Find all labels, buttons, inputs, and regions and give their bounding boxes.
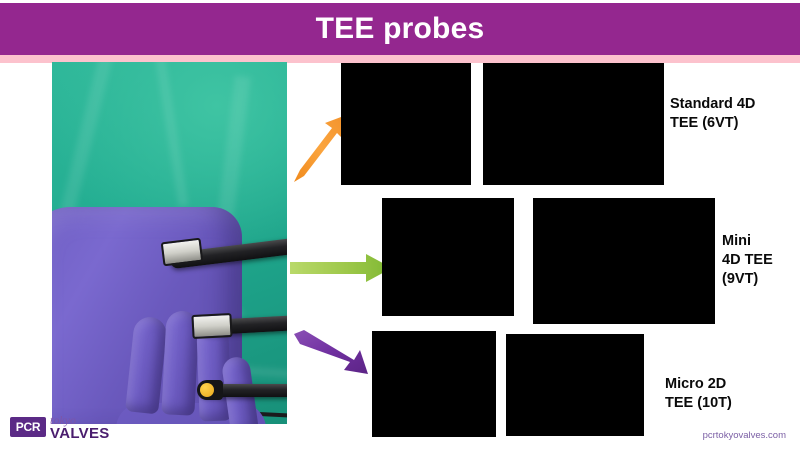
slide-root: TEE probes [0, 0, 800, 450]
echo-3d-volume-standard [341, 63, 471, 185]
echo-2d-micro-left [372, 331, 496, 437]
footer-url[interactable]: pcrtokyovalves.com [703, 430, 786, 441]
echo-background [341, 63, 471, 185]
probe-tip-standard [161, 238, 204, 267]
echo-background [533, 198, 715, 324]
echo-background [506, 334, 644, 436]
arrow-micro-2d-icon [292, 330, 374, 376]
arrow-mini-4d-icon [290, 253, 394, 283]
probe-tip-micro [197, 380, 223, 400]
echo-background [372, 331, 496, 437]
slide-header-bar: TEE probes [0, 3, 800, 55]
echo-2d-biplane-standard [483, 63, 664, 185]
tee-probes-photograph [52, 62, 287, 424]
echo-background [483, 63, 664, 185]
pcr-tokyo-valves-logo: PCR tokyo VALVES [10, 410, 120, 442]
logo-word-valves: VALVES [50, 425, 110, 442]
pcr-badge-text: PCR [16, 420, 40, 434]
label-standard-4d: Standard 4D TEE (6VT) [670, 95, 755, 133]
echo-background [382, 198, 514, 316]
echo-3d-volume-mini [382, 198, 514, 316]
page-title: TEE probes [0, 3, 800, 55]
echo-2d-biplane-mini [533, 198, 715, 324]
label-micro-2d: Micro 2D TEE (10T) [665, 375, 732, 413]
probe-tip-mini [191, 313, 232, 339]
label-mini-4d: Mini 4D TEE (9VT) [722, 232, 773, 289]
pcr-badge: PCR [10, 417, 46, 437]
echo-2d-micro-right [506, 334, 644, 436]
